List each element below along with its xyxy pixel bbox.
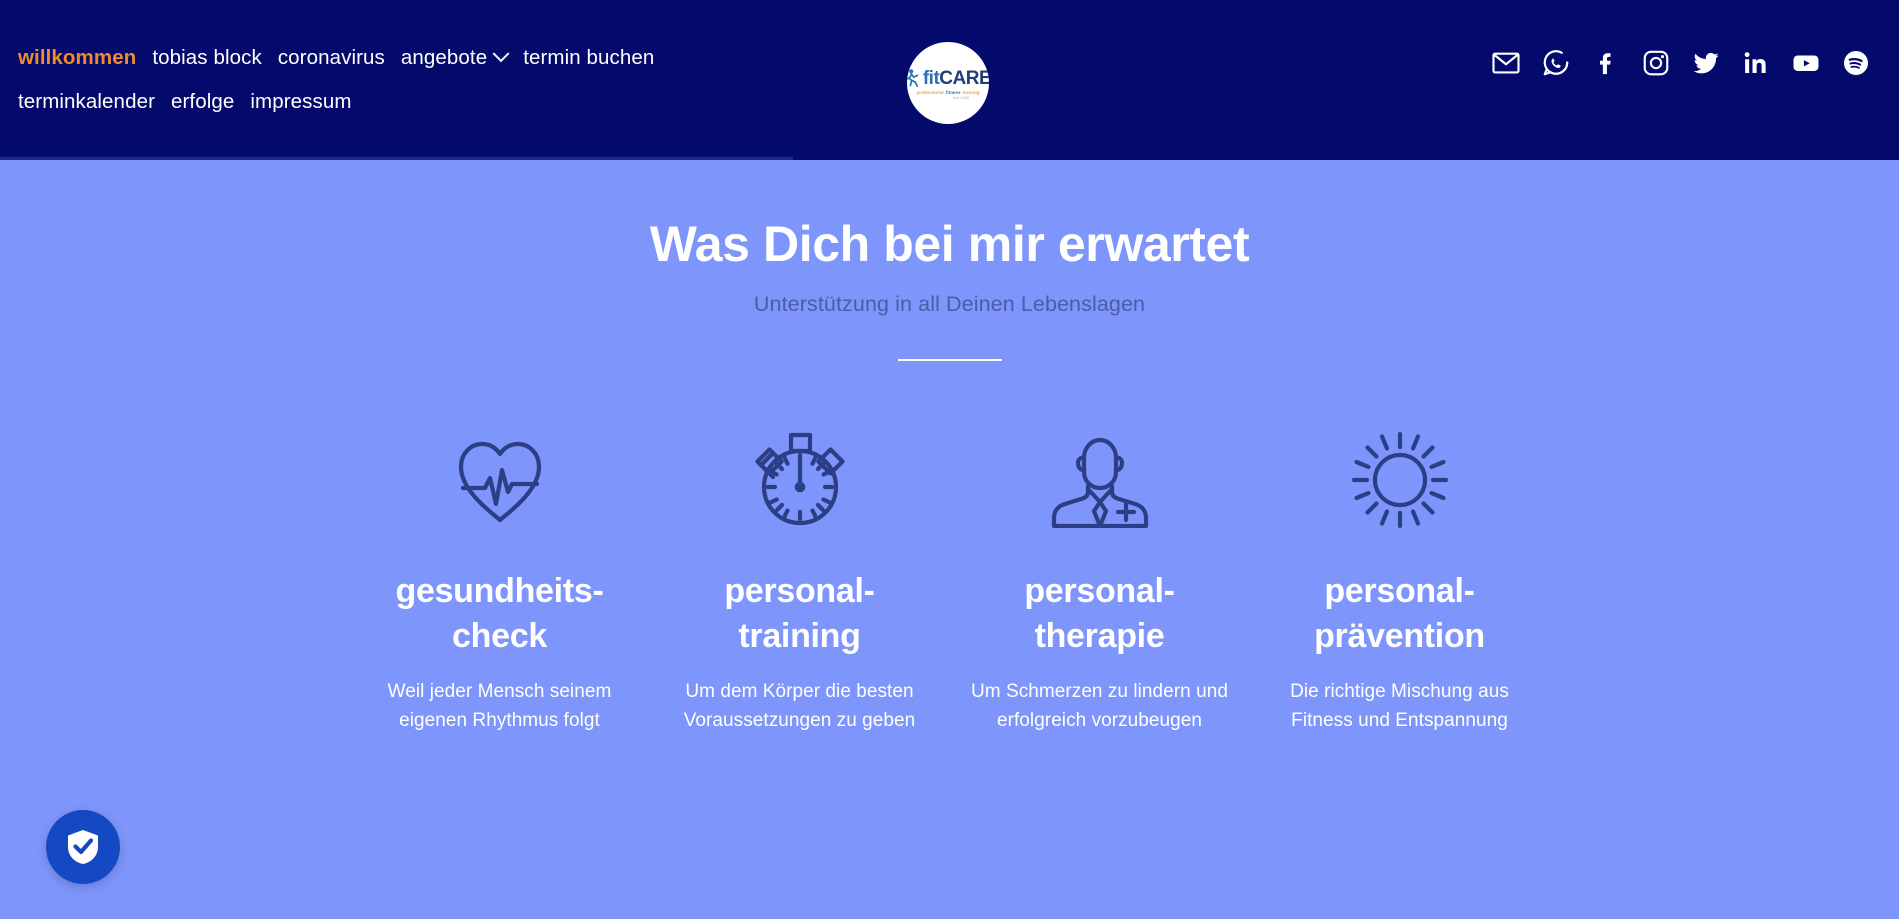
runner-icon: [907, 68, 922, 88]
service-card-title: gesundheits-check: [385, 569, 615, 661]
heart-pulse-icon: [451, 415, 549, 545]
sun-icon: [1350, 415, 1450, 545]
nav-item-termin-buchen[interactable]: termin buchen: [523, 36, 654, 80]
nav-item-tobias-block[interactable]: tobias block: [152, 36, 261, 80]
service-card-description: Die richtige Mischung aus Fitness und En…: [1265, 678, 1535, 735]
stopwatch-icon: [749, 415, 851, 545]
logo-text: fitCARE: [923, 69, 989, 88]
doctor-icon: [1048, 415, 1152, 545]
service-card-description: Weil jeder Mensch seinem eigenen Rhythmu…: [365, 678, 635, 735]
privacy-shield-button[interactable]: [46, 810, 120, 884]
service-card[interactable]: gesundheits-check Weil jeder Mensch sein…: [350, 415, 650, 736]
service-card[interactable]: personal-prävention Die richtige Mischun…: [1250, 415, 1550, 736]
whatsapp-icon[interactable]: [1541, 48, 1571, 78]
facebook-icon[interactable]: [1591, 48, 1621, 78]
spotify-icon[interactable]: [1841, 48, 1871, 78]
logo-text-fit: fit: [923, 68, 939, 89]
logo-tagline-1: professional: [916, 90, 943, 95]
logo-tagline: professional fitness training: [916, 90, 979, 95]
logo-tagline-3: training: [963, 90, 980, 95]
main-navigation: willkommen tobias block coronavirus ange…: [0, 0, 670, 124]
nav-row-secondary: terminkalender erfolge impressum: [18, 80, 670, 124]
service-card-description: Um dem Körper die besten Voraussetzungen…: [665, 678, 935, 735]
nav-item-coronavirus[interactable]: coronavirus: [278, 36, 385, 80]
instagram-icon[interactable]: [1641, 48, 1671, 78]
service-card[interactable]: personal-therapie Um Schmerzen zu linder…: [950, 415, 1250, 736]
nav-item-willkommen[interactable]: willkommen: [18, 36, 136, 80]
nav-item-erfolge[interactable]: erfolge: [171, 80, 234, 124]
site-header: willkommen tobias block coronavirus ange…: [0, 0, 1899, 160]
logo-tagline-2: fitness: [946, 90, 961, 95]
title-divider: [898, 359, 1002, 361]
linkedin-icon[interactable]: [1741, 48, 1771, 78]
social-links: [1491, 48, 1871, 78]
shield-check-icon: [65, 828, 101, 866]
service-card[interactable]: personal-training Um dem Körper die best…: [650, 415, 950, 736]
service-card-title: personal-training: [685, 569, 915, 661]
youtube-icon[interactable]: [1791, 48, 1821, 78]
logo-text-care: CARE: [939, 68, 989, 89]
nav-item-impressum[interactable]: impressum: [250, 80, 351, 124]
chevron-down-icon: [493, 45, 510, 62]
main-section: Was Dich bei mir erwartet Unterstützung …: [0, 160, 1899, 735]
header-bottom-edge: [0, 157, 793, 160]
nav-item-angebote-label: angebote: [401, 36, 487, 80]
nav-item-terminkalender[interactable]: terminkalender: [18, 80, 155, 124]
service-cards: gesundheits-check Weil jeder Mensch sein…: [0, 415, 1899, 736]
nav-item-angebote[interactable]: angebote: [401, 36, 507, 80]
page-title: Was Dich bei mir erwartet: [0, 216, 1899, 274]
logo-established: seit 2005: [953, 96, 969, 100]
nav-row-primary: willkommen tobias block coronavirus ange…: [18, 36, 670, 80]
service-card-title: personal-prävention: [1285, 569, 1515, 661]
page-subtitle: Unterstützung in all Deinen Lebenslagen: [0, 292, 1899, 317]
twitter-icon[interactable]: [1691, 48, 1721, 78]
service-card-description: Um Schmerzen zu lindern und erfolgreich …: [965, 678, 1235, 735]
fitcare-logo[interactable]: fitCARE professional fitness training se…: [907, 42, 989, 124]
service-card-title: personal-therapie: [985, 569, 1215, 661]
email-icon[interactable]: [1491, 48, 1521, 78]
logo-wordmark: fitCARE: [907, 68, 989, 88]
